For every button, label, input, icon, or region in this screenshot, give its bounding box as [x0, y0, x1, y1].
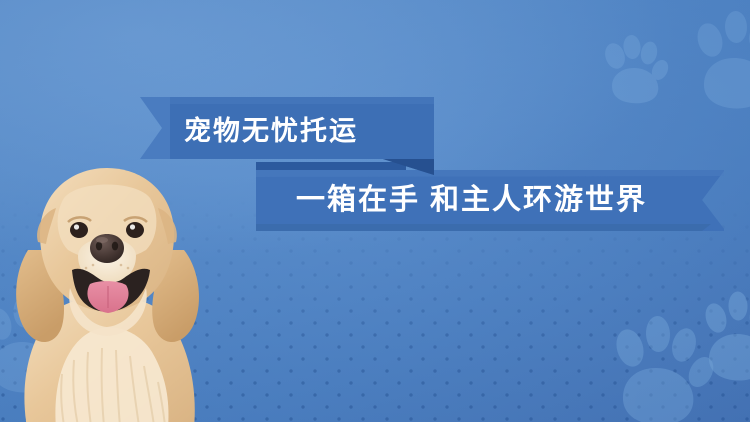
dog-eye-right: [126, 222, 144, 238]
pet-shipping-promo-banner: 一箱在手 和主人环游世界 宠物无忧托运: [0, 0, 750, 422]
dog-eye-left: [70, 222, 88, 238]
golden-retriever-photo: [0, 138, 224, 422]
